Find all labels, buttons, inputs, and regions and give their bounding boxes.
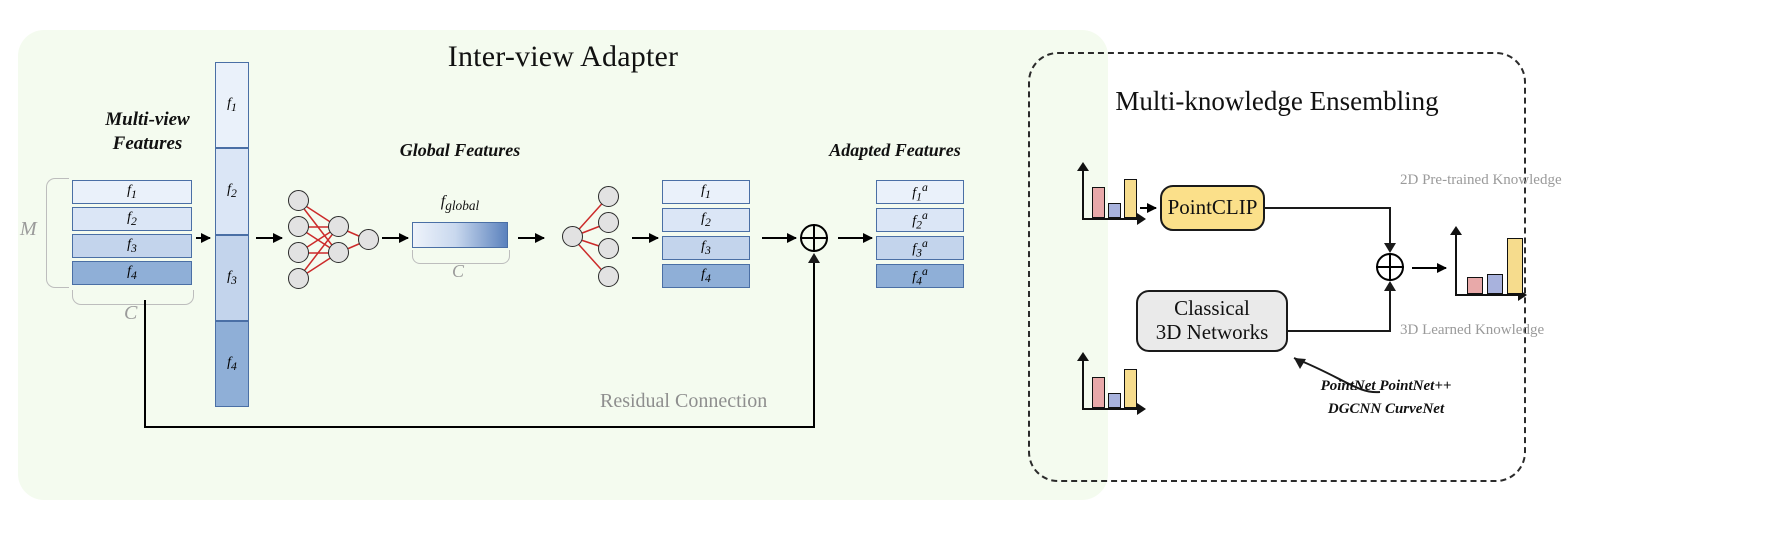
list-item: f3a [876, 236, 964, 260]
mlp-node [598, 266, 619, 287]
mlp-node [562, 226, 583, 247]
chart-ensembled-output [1455, 232, 1525, 296]
page-title-multi-knowledge: Multi-knowledge Ensembling [1028, 86, 1526, 117]
mlp-node [598, 212, 619, 233]
line-classical-to-sum [1288, 330, 1391, 332]
chart-bar [1507, 238, 1523, 294]
residual-sum-operator [800, 224, 828, 252]
chart-bar [1487, 274, 1503, 294]
mlp-node [598, 238, 619, 259]
list-item: f4 [662, 264, 750, 288]
global-feature-vector [412, 222, 508, 248]
chart-bar [1467, 277, 1483, 294]
list-item: f4a [876, 264, 964, 288]
chart-y-axis [1455, 234, 1457, 296]
arrow-global-to-decoder [518, 237, 544, 239]
list-item: f1a [876, 180, 964, 204]
m-dimension-brace [46, 178, 69, 288]
chart-classical3d-input [1082, 358, 1144, 410]
mlp-node [598, 186, 619, 207]
arrow-chart-to-pointclip [1140, 207, 1156, 209]
arrow-concat-to-mlp [256, 237, 282, 239]
page-title-inter-view-adapter: Inter-view Adapter [18, 40, 1108, 74]
classical-networks-list: PointNet PointNet++ DGCNN CurveNet [1296, 375, 1476, 422]
arrow-stack-to-concat [196, 237, 210, 239]
residual-line-vertical-right [813, 262, 815, 428]
chart-y-axis [1082, 170, 1084, 220]
list-item: f1 [662, 180, 750, 204]
classical-line1: Classical [1174, 296, 1250, 320]
chart-x-axis [1082, 218, 1138, 220]
list-item: f4 [72, 261, 192, 285]
arrow-sum-to-adapted [838, 237, 872, 239]
mlp-node [288, 190, 309, 211]
diagram-canvas: Inter-view Adapter Multi-view Features M… [0, 0, 1766, 550]
adapted-feature-stack: f1a f2a f3a f4a [876, 180, 964, 292]
mlp-node [288, 242, 309, 263]
decoder-output-stack: f1 f2 f3 f4 [662, 180, 750, 292]
chart-bar [1124, 369, 1137, 408]
classical-3d-networks-node[interactable]: Classical 3D Networks [1136, 290, 1288, 352]
global-features-label: Global Features [385, 140, 535, 161]
chart-bar [1092, 377, 1105, 408]
arrow-decoder-to-out [632, 237, 658, 239]
list-item: f2a [876, 208, 964, 232]
global-vector-label: fglobal [410, 193, 510, 214]
line-classical-up [1389, 290, 1391, 332]
m-dimension-label: M [20, 218, 37, 241]
classical-line2: 3D Networks [1156, 320, 1269, 344]
c-dimension-label: C [124, 302, 137, 325]
ensemble-sum-operator [1376, 253, 1404, 281]
knowledge-2d-label: 2D Pre-trained Knowledge [1400, 172, 1562, 189]
chart-y-axis [1082, 360, 1084, 410]
multiview-line2: Features [113, 133, 183, 154]
networks-line-2: DGCNN CurveNet [1296, 398, 1476, 421]
global-c-label: C [452, 261, 464, 282]
multiview-line1: Multi-view [105, 109, 189, 130]
chart-pointclip-input [1082, 168, 1144, 220]
list-item: f2 [215, 148, 249, 234]
residual-line-horizontal [144, 426, 814, 428]
adapted-features-label: Adapted Features [810, 140, 980, 161]
list-item: f2 [72, 207, 192, 231]
residual-line-vertical-left [144, 300, 146, 428]
arrow-sum-to-result [1412, 267, 1446, 269]
networks-line-1: PointNet PointNet++ [1296, 375, 1476, 398]
residual-connection-label: Residual Connection [600, 390, 767, 413]
multi-view-feature-stack: f1 f2 f3 f4 [72, 180, 192, 285]
list-item: f1 [215, 62, 249, 148]
arrow-out-to-sum [762, 237, 796, 239]
arrow-mlp-to-global [382, 237, 408, 239]
list-item: f1 [72, 180, 192, 204]
list-item: f3 [72, 234, 192, 258]
chart-x-axis [1455, 294, 1519, 296]
mlp-node [288, 216, 309, 237]
chart-bar [1092, 187, 1105, 218]
mlp-node [358, 229, 379, 250]
line-pointclip-to-sum [1265, 207, 1390, 209]
concatenated-feature-column: f1 f2 f3 f4 [215, 62, 249, 407]
knowledge-3d-label: 3D Learned Knowledge [1400, 322, 1544, 339]
chart-bar [1124, 179, 1137, 218]
mlp-node [328, 242, 349, 263]
pointclip-node[interactable]: PointCLIP [1160, 185, 1265, 231]
chart-bar [1108, 393, 1121, 408]
list-item: f3 [215, 235, 249, 321]
list-item: f4 [215, 321, 249, 407]
chart-x-axis [1082, 408, 1138, 410]
chart-bar [1108, 203, 1121, 218]
multi-view-features-label: Multi-view Features [60, 108, 235, 156]
list-item: f2 [662, 208, 750, 232]
line-pointclip-down [1389, 207, 1391, 244]
list-item: f3 [662, 236, 750, 260]
mlp-node [328, 216, 349, 237]
mlp-node [288, 268, 309, 289]
